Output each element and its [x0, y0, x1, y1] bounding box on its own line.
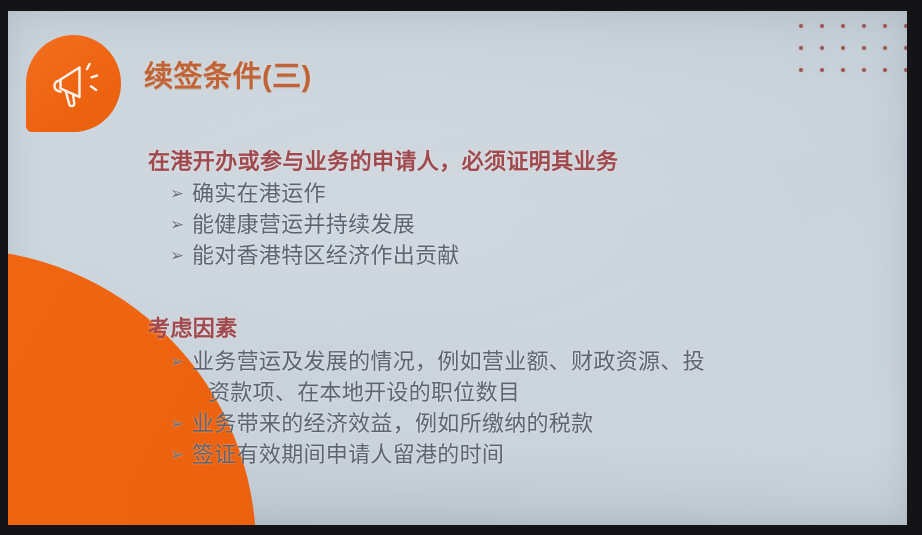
section-requirements: 在港开办或参与业务的申请人，必须证明其业务 ➢ 确实在港运作 ➢ 能健康营运并持… — [148, 144, 888, 271]
bullet-arrow-icon: ➢ — [170, 210, 192, 240]
grid-dot — [883, 24, 887, 28]
grid-dot — [904, 46, 907, 50]
bullet-text-line1: 业务营运及发展的情况，例如营业额、财政资源、投 — [192, 349, 705, 374]
bullet-arrow-icon: ➢ — [170, 409, 192, 439]
bullet-text: 签证有效期间申请人留港的时间 — [192, 440, 888, 471]
bullet-text: 业务营运及发展的情况，例如营业额、财政资源、投 资款项、在本地开设的职位数目 — [192, 347, 888, 409]
bullet-list: ➢ 确实在港运作 ➢ 能健康营运并持续发展 ➢ 能对香港特区经济作出贡献 — [148, 179, 888, 271]
megaphone-icon — [46, 57, 102, 111]
section-factors: 考虑因素 ➢ 业务营运及发展的情况，例如营业额、财政资源、投 资款项、在本地开设… — [148, 311, 888, 470]
bullet-text-line2: 资款项、在本地开设的职位数目 — [192, 378, 888, 409]
grid-dot — [820, 68, 824, 72]
grid-dot — [799, 46, 803, 50]
grid-dot — [841, 68, 845, 72]
projector-screen-frame: 续签条件(三) 在港开办或参与业务的申请人，必须证明其业务 ➢ 确实在港运作 ➢… — [0, 0, 922, 535]
bullet-arrow-icon: ➢ — [170, 440, 192, 470]
bullet-arrow-icon: ➢ — [170, 179, 192, 209]
bullet-text: 能对香港特区经济作出贡献 — [192, 241, 888, 272]
megaphone-badge — [26, 35, 121, 132]
section-heading: 考虑因素 — [148, 311, 888, 343]
slide-title: 续签条件(三) — [144, 53, 312, 95]
grid-dot — [883, 68, 887, 72]
bullet-item: ➢ 签证有效期间申请人留港的时间 — [148, 440, 888, 471]
bullet-list: ➢ 业务营运及发展的情况，例如营业额、财政资源、投 资款项、在本地开设的职位数目… — [148, 347, 888, 470]
orange-arc-fill — [8, 483, 128, 525]
section-heading: 在港开办或参与业务的申请人，必须证明其业务 — [148, 144, 888, 176]
presentation-slide: 续签条件(三) 在港开办或参与业务的申请人，必须证明其业务 ➢ 确实在港运作 ➢… — [8, 11, 907, 525]
grid-dot — [904, 68, 907, 72]
slide-body: 在港开办或参与业务的申请人，必须证明其业务 ➢ 确实在港运作 ➢ 能健康营运并持… — [148, 144, 888, 471]
bullet-text: 能健康营运并持续发展 — [192, 210, 888, 241]
bullet-text: 确实在港运作 — [192, 179, 888, 210]
grid-dot — [862, 68, 866, 72]
grid-dot — [841, 46, 845, 50]
grid-dot — [841, 24, 845, 28]
grid-dot — [883, 46, 887, 50]
grid-dot — [799, 68, 803, 72]
bullet-item: ➢ 能健康营运并持续发展 — [148, 210, 888, 241]
bullet-item: ➢ 业务营运及发展的情况，例如营业额、财政资源、投 资款项、在本地开设的职位数目 — [148, 347, 888, 409]
bullet-arrow-icon: ➢ — [170, 347, 192, 377]
bullet-arrow-icon: ➢ — [170, 241, 192, 271]
grid-dot — [799, 24, 803, 28]
grid-dot — [820, 46, 824, 50]
grid-dot — [862, 46, 866, 50]
bullet-text: 业务带来的经济效益，例如所缴纳的税款 — [192, 409, 888, 440]
bullet-item: ➢ 能对香港特区经济作出贡献 — [148, 241, 888, 272]
grid-dot — [820, 24, 824, 28]
bullet-item: ➢ 确实在港运作 — [148, 179, 888, 210]
grid-dot — [862, 24, 866, 28]
grid-dot — [904, 24, 907, 28]
bullet-item: ➢ 业务带来的经济效益，例如所缴纳的税款 — [148, 409, 888, 440]
dot-grid-decoration — [799, 24, 907, 90]
